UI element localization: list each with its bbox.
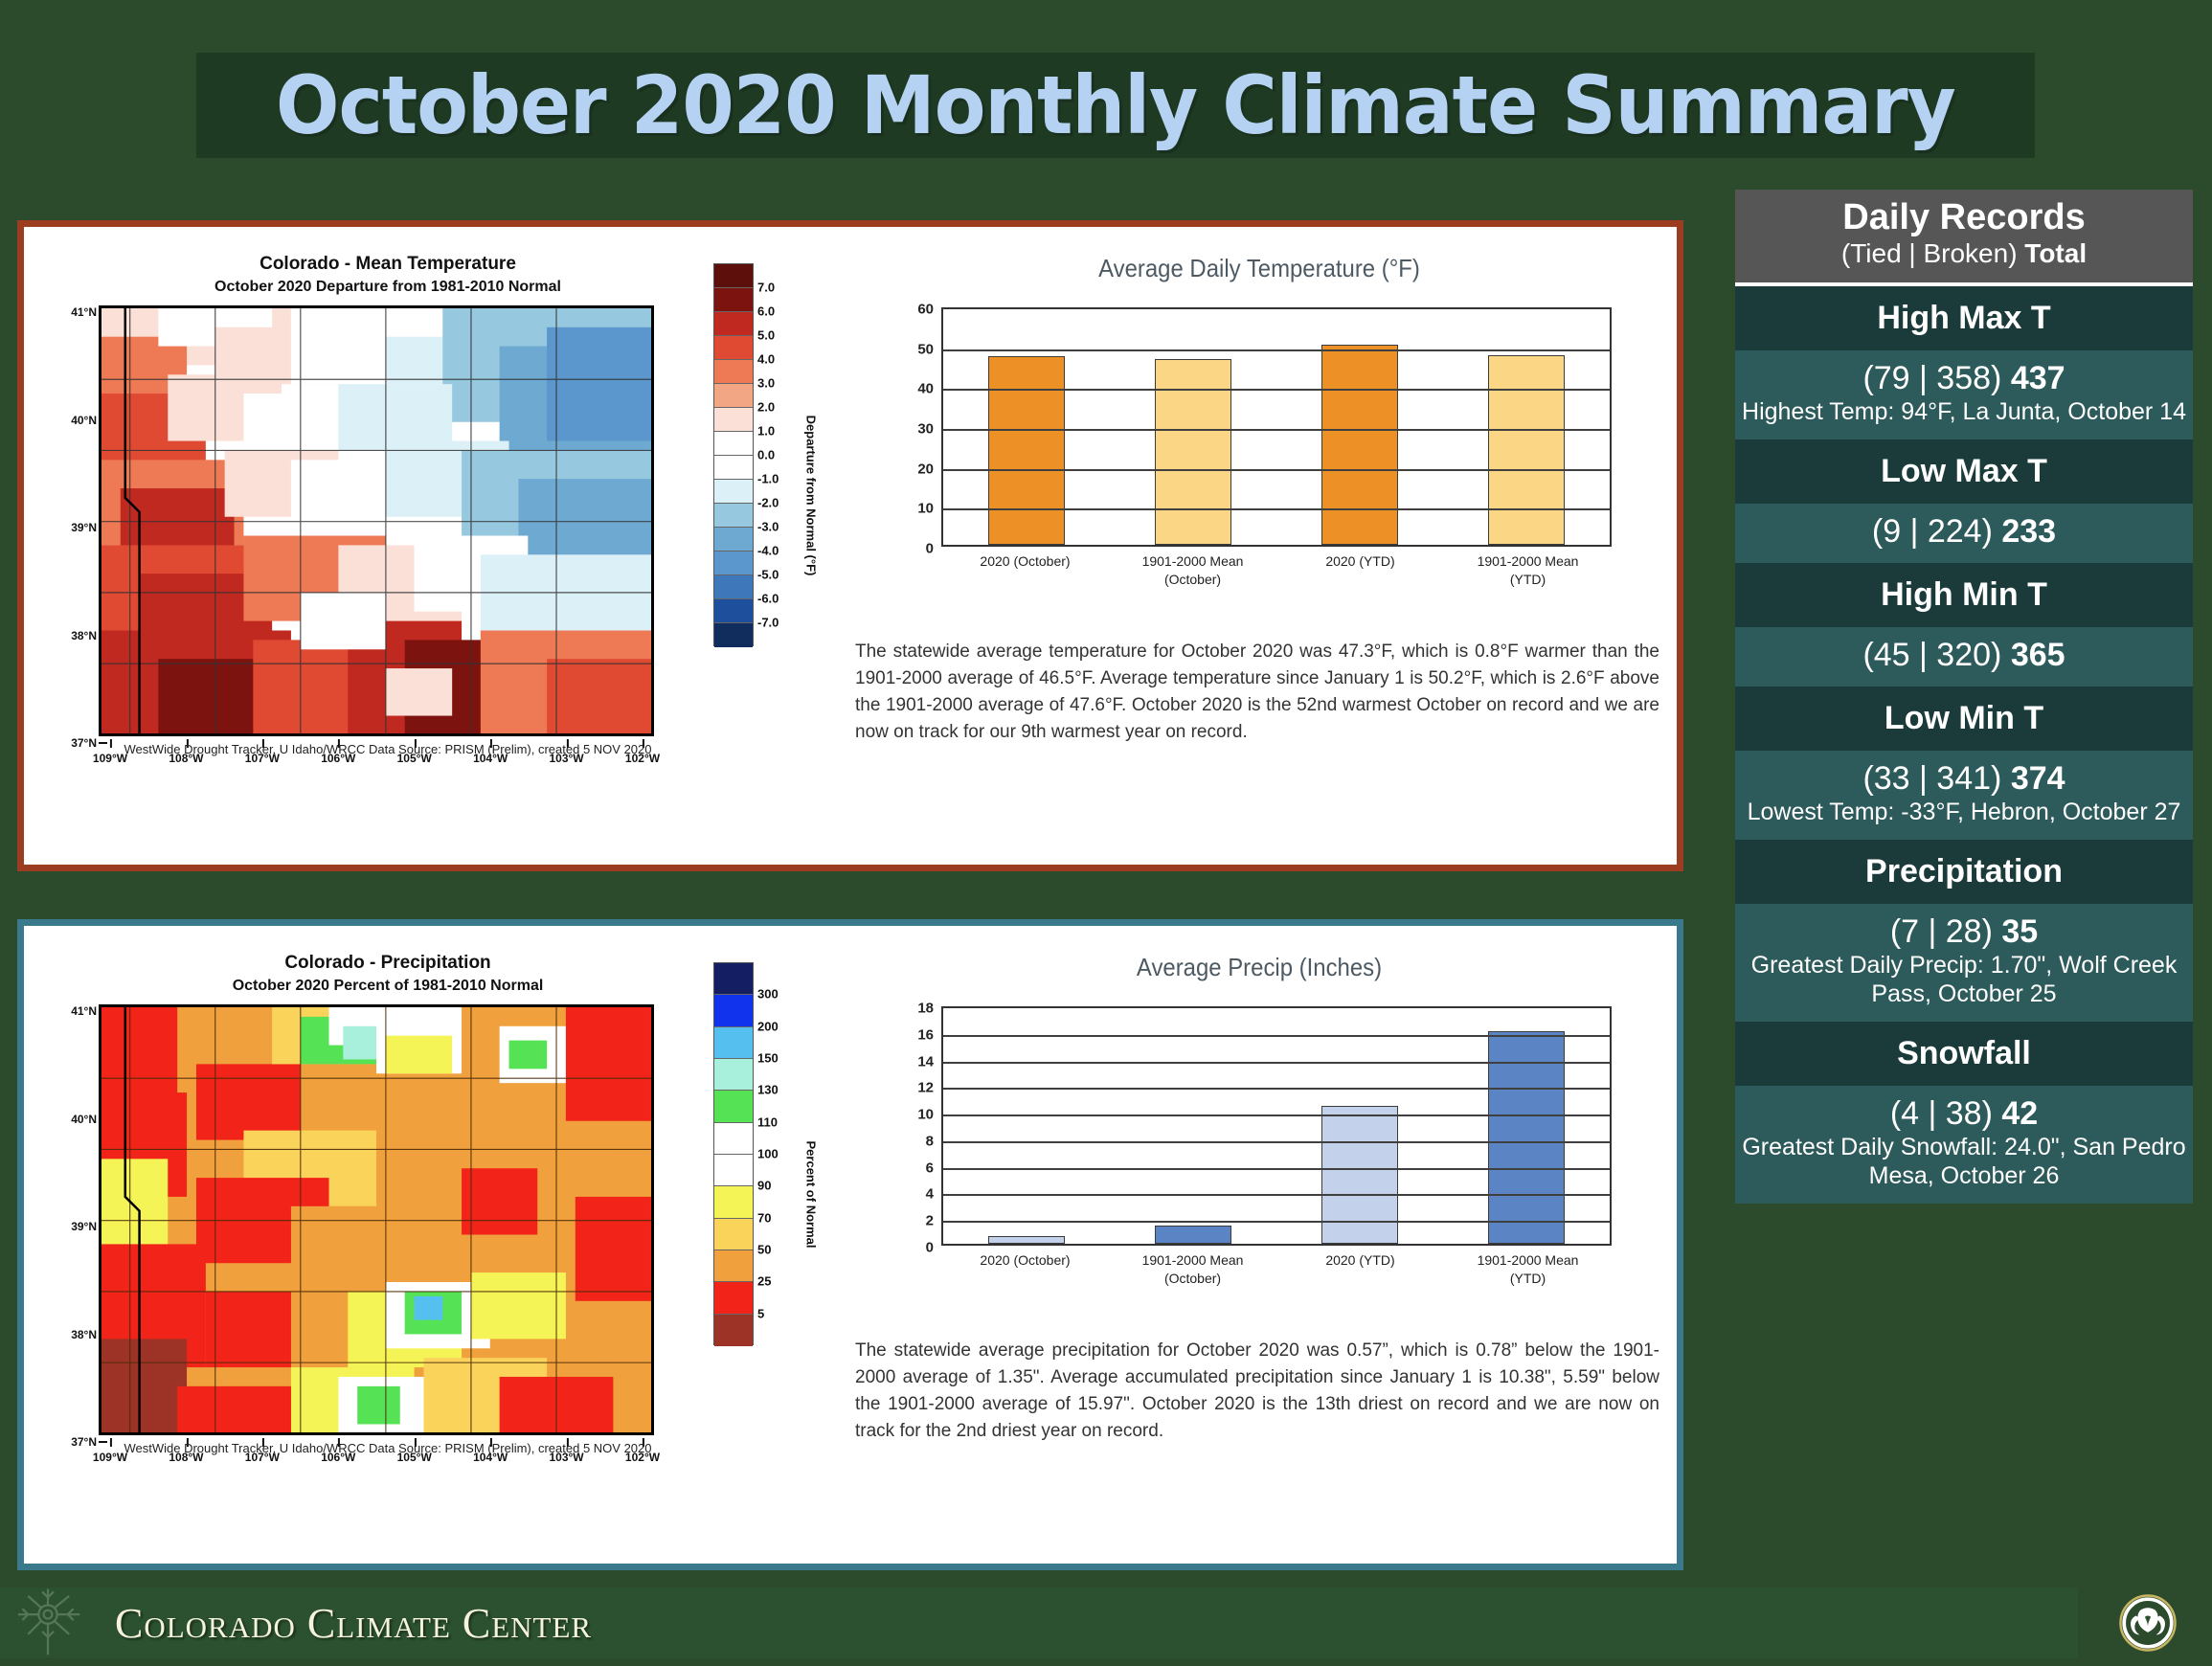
record-counts-tied-broken: (45 | 320) — [1862, 637, 2010, 673]
record-value: (4 | 38) 42Greatest Daily Snowfall: 24.0… — [1735, 1086, 2193, 1204]
precipitation-colorbar-band — [714, 1186, 753, 1218]
precipitation-colorbar-band — [714, 1155, 753, 1186]
precipitation-map-title: Colorado - Precipitation — [53, 953, 723, 974]
temperature-colorbar: 7.06.05.04.03.02.01.00.0-1.0-2.0-3.0-4.0… — [704, 263, 857, 713]
precipitation-colorbar-label: 70 — [757, 1210, 771, 1225]
temperature-map-caption: WestWide Drought Tracker, U Idaho/WRCC D… — [53, 742, 723, 756]
precipitation-card: Colorado - Precipitation October 2020 Pe… — [17, 919, 1683, 1570]
temperature-colorbar-band — [714, 384, 753, 408]
precipitation-chart-title: Average Precip (Inches) — [890, 953, 1630, 982]
temperature-colorbar-label: 7.0 — [757, 281, 775, 295]
daily-records-subtitle-total: Total — [2024, 238, 2087, 268]
daily-records-sidebar: Daily Records (Tied | Broken) Total High… — [1735, 190, 2193, 1204]
precipitation-paragraph: The statewide average precipitation for … — [855, 1338, 1659, 1445]
temperature-colorbar-band — [714, 575, 753, 599]
precipitation-colorbar-band — [714, 1059, 753, 1091]
precipitation-chart-y-tick: 12 — [917, 1080, 934, 1096]
csu-ram-logo — [2118, 1593, 2178, 1653]
temperature-chart-bar — [988, 356, 1065, 545]
footer-bar: Colorado Climate Center — [0, 1587, 2078, 1658]
record-counts: (4 | 38) 42 — [1741, 1095, 2187, 1132]
precipitation-colorbar-band — [714, 1123, 753, 1155]
temperature-chart-x-label: 2020 (October) — [941, 552, 1109, 589]
precipitation-chart-y-tick: 14 — [917, 1053, 934, 1069]
precipitation-colorbar-label: 130 — [757, 1083, 779, 1097]
precipitation-colorbar-label: 50 — [757, 1243, 771, 1257]
precipitation-map-lat-tick: 38°N — [71, 1328, 97, 1341]
precipitation-map-caption: WestWide Drought Tracker, U Idaho/WRCC D… — [53, 1441, 723, 1455]
precipitation-chart-bar — [1155, 1226, 1231, 1244]
temperature-colorbar-band — [714, 408, 753, 432]
temperature-chart-x-label: 1901-2000 Mean(October) — [1109, 552, 1276, 589]
footer: Colorado Climate Center — [0, 1580, 2212, 1666]
record-value: (45 | 320) 365 — [1735, 627, 2193, 687]
temperature-colorbar-label: -6.0 — [757, 592, 779, 606]
record-counts-tied-broken: (33 | 341) — [1862, 760, 2010, 797]
precipitation-colorbar: 300200150130110100907050255 Percent of N… — [704, 962, 857, 1412]
temperature-map-subtitle: October 2020 Departure from 1981-2010 No… — [53, 279, 723, 296]
precipitation-chart-gridline — [943, 1114, 1610, 1116]
temperature-colorbar-label: 0.0 — [757, 448, 775, 462]
temperature-colorbar-band — [714, 504, 753, 528]
temperature-card: Colorado - Mean Temperature October 2020… — [17, 220, 1683, 871]
precipitation-chart-gridline — [943, 1221, 1610, 1223]
temperature-colorbar-band — [714, 480, 753, 504]
precipitation-map-image — [102, 1007, 651, 1433]
record-counts: (7 | 28) 35 — [1741, 913, 2187, 950]
precipitation-map-lat-tick: 39°N — [71, 1220, 97, 1233]
precipitation-colorbar-band — [714, 963, 753, 995]
temperature-colorbar-label: 3.0 — [757, 376, 775, 391]
record-counts-total: 42 — [2001, 1095, 2038, 1132]
temperature-map-panel: Colorado - Mean Temperature October 2020… — [53, 254, 723, 867]
temperature-chart-gridline — [943, 349, 1610, 351]
record-detail: Greatest Daily Precip: 1.70", Wolf Creek… — [1741, 951, 2187, 1008]
record-value: (79 | 358) 437Highest Temp: 94°F, La Jun… — [1735, 350, 2193, 439]
precipitation-colorbar-band — [714, 1250, 753, 1282]
precipitation-colorbar-band — [714, 1315, 753, 1346]
temperature-chart-gridline — [943, 508, 1610, 510]
precipitation-colorbar-band — [714, 1219, 753, 1250]
precipitation-chart-y-tick: 10 — [917, 1107, 934, 1123]
temperature-colorbar-band — [714, 336, 753, 360]
temperature-chart-y-tick: 20 — [917, 461, 934, 477]
precipitation-chart-y-tick: 4 — [926, 1186, 934, 1203]
precipitation-chart-gridline — [943, 1168, 1610, 1170]
record-category: High Min T — [1735, 563, 2193, 627]
precipitation-x-labels: 2020 (October)1901-2000 Mean(October)202… — [941, 1251, 1612, 1288]
record-value: (9 | 224) 233 — [1735, 504, 2193, 563]
temperature-chart-gridline — [943, 389, 1610, 391]
precipitation-chart-y-tick: 6 — [926, 1159, 934, 1176]
record-counts-total: 233 — [2001, 513, 2056, 550]
precipitation-chart-y-tick: 16 — [917, 1026, 934, 1043]
temperature-chart-y-tick: 50 — [917, 341, 934, 357]
temperature-colorbar-label: -7.0 — [757, 616, 779, 630]
temperature-colorbar-label: -2.0 — [757, 496, 779, 510]
temperature-chart-x-label: 1901-2000 Mean(YTD) — [1444, 552, 1612, 589]
precipitation-chart-x-label: 2020 (October) — [941, 1251, 1109, 1288]
record-counts-total: 365 — [2011, 637, 2065, 673]
record-detail: Highest Temp: 94°F, La Junta, October 14 — [1741, 397, 2187, 426]
precipitation-chart-y-tick: 2 — [926, 1213, 934, 1229]
temperature-colorbar-title: Departure from Normal (°F) — [804, 416, 819, 576]
temperature-chart-gridline — [943, 429, 1610, 431]
precipitation-map-lat-axis: 41°N40°N39°N38°N37°N — [55, 1004, 97, 1435]
precipitation-map-panel: Colorado - Precipitation October 2020 Pe… — [53, 953, 723, 1565]
temperature-chart-x-label: 2020 (YTD) — [1276, 552, 1444, 589]
footer-organization: Colorado Climate Center — [115, 1599, 592, 1648]
precipitation-chart-bar — [1321, 1106, 1398, 1244]
temperature-chart-bar — [1321, 345, 1398, 545]
record-category: Snowfall — [1735, 1022, 2193, 1086]
precipitation-chart-y-tick: 18 — [917, 1001, 934, 1017]
temperature-x-labels: 2020 (October)1901-2000 Mean(October)202… — [941, 552, 1612, 589]
record-value: (33 | 341) 374Lowest Temp: -33°F, Hebron… — [1735, 751, 2193, 840]
temperature-colorbar-band — [714, 288, 753, 312]
temperature-colorbar-band — [714, 312, 753, 336]
temperature-map-frame — [99, 305, 654, 736]
daily-records-subtitle-normal: (Tied | Broken) — [1841, 238, 2024, 268]
precipitation-chart-gridline — [943, 1035, 1610, 1037]
record-counts: (33 | 341) 374 — [1741, 760, 2187, 797]
precipitation-colorbar-label: 150 — [757, 1051, 779, 1066]
precipitation-colorbar-label: 25 — [757, 1274, 771, 1289]
climate-summary-page: October 2020 Monthly Climate Summary Col… — [0, 0, 2212, 1666]
precipitation-chart-x-label: 2020 (YTD) — [1276, 1251, 1444, 1288]
temperature-plot-area: 0102030405060 — [941, 307, 1612, 547]
precipitation-colorbar-band — [714, 1027, 753, 1059]
precipitation-colorbar-label: 110 — [757, 1114, 778, 1129]
temperature-colorbar-label: -1.0 — [757, 472, 779, 486]
record-category: Precipitation — [1735, 840, 2193, 904]
title-banner: October 2020 Monthly Climate Summary — [196, 53, 2035, 158]
temperature-map-lat-axis: 41°N40°N39°N38°N37°N — [55, 305, 97, 736]
record-category: Low Max T — [1735, 439, 2193, 504]
precipitation-colorbar-label: 300 — [757, 987, 779, 1002]
precipitation-colorbar-band — [714, 995, 753, 1026]
precipitation-colorbar-label: 5 — [757, 1306, 764, 1320]
temperature-colorbar-band — [714, 623, 753, 647]
precipitation-chart-gridline — [943, 1194, 1610, 1196]
record-counts-tied-broken: (9 | 224) — [1872, 513, 2001, 550]
temperature-colorbar-band — [714, 360, 753, 384]
temperature-colorbar-band — [714, 456, 753, 480]
precipitation-map-lat-tick: 40°N — [71, 1113, 97, 1126]
temperature-map-lat-tick: 41°N — [71, 305, 97, 319]
precipitation-chart-gridline — [943, 1088, 1610, 1090]
precipitation-map-subtitle: October 2020 Percent of 1981-2010 Normal — [53, 978, 723, 995]
precipitation-colorbar-label: 100 — [757, 1147, 779, 1161]
temperature-colorbar-band — [714, 599, 753, 623]
record-counts-total: 35 — [2001, 913, 2038, 950]
temperature-chart-gridline — [943, 469, 1610, 471]
temperature-colorbar-band — [714, 264, 753, 288]
temperature-colorbar-label: 1.0 — [757, 424, 775, 439]
precipitation-map-lat-tick: 41°N — [71, 1004, 97, 1018]
temperature-colorbar-band — [714, 528, 753, 552]
temperature-colorbar-label: -3.0 — [757, 520, 779, 534]
record-counts-tied-broken: (79 | 358) — [1862, 360, 2010, 396]
temperature-colorbar-label: -4.0 — [757, 544, 779, 558]
temperature-chart-y-tick: 0 — [926, 541, 934, 557]
record-detail: Lowest Temp: -33°F, Hebron, October 27 — [1741, 798, 2187, 826]
precipitation-chart-x-label: 1901-2000 Mean(October) — [1109, 1251, 1276, 1288]
temperature-colorbar-label: 4.0 — [757, 352, 775, 367]
temperature-chart-y-tick: 10 — [917, 501, 934, 517]
temperature-colorbar-band — [714, 432, 753, 456]
record-detail: Greatest Daily Snowfall: 24.0", San Pedr… — [1741, 1133, 2187, 1190]
record-counts-total: 374 — [2011, 760, 2065, 797]
record-counts-total: 437 — [2011, 360, 2065, 396]
record-counts: (45 | 320) 365 — [1741, 637, 2187, 673]
precipitation-colorbar-label: 200 — [757, 1019, 779, 1033]
record-counts-tied-broken: (4 | 38) — [1890, 1095, 2002, 1132]
page-title: October 2020 Monthly Climate Summary — [276, 58, 1955, 152]
precipitation-chart: Average Precip (Inches) 024681012141618 … — [857, 953, 1661, 1326]
precipitation-plot-area: 024681012141618 — [941, 1006, 1612, 1246]
precipitation-colorbar-title: Percent of Normal — [804, 1141, 819, 1249]
record-value: (7 | 28) 35Greatest Daily Precip: 1.70",… — [1735, 904, 2193, 1022]
record-counts: (9 | 224) 233 — [1741, 513, 2187, 550]
temperature-map-lat-tick: 38°N — [71, 629, 97, 642]
temperature-colorbar-label: 2.0 — [757, 400, 775, 415]
precipitation-chart-bar — [988, 1236, 1065, 1244]
daily-records-title: Daily Records — [1741, 199, 2187, 237]
temperature-colorbar-label: -5.0 — [757, 568, 779, 582]
temperature-chart-bar — [1155, 359, 1231, 545]
record-category: High Max T — [1735, 286, 2193, 350]
temperature-paragraph: The statewide average temperature for Oc… — [855, 639, 1659, 746]
precipitation-colorbar-band — [714, 1091, 753, 1122]
precipitation-map-frame — [99, 1004, 654, 1435]
snowflake-logo — [0, 1587, 115, 1658]
precipitation-chart-gridline — [943, 1062, 1610, 1064]
daily-records-header: Daily Records (Tied | Broken) Total — [1735, 190, 2193, 286]
record-counts-tied-broken: (7 | 28) — [1890, 913, 2002, 950]
temperature-chart-y-tick: 60 — [917, 302, 934, 318]
temperature-map-image — [102, 308, 651, 734]
temperature-colorbar-label: 5.0 — [757, 328, 775, 343]
temperature-colorbar-band — [714, 552, 753, 575]
record-counts: (79 | 358) 437 — [1741, 360, 2187, 396]
temperature-map-title: Colorado - Mean Temperature — [53, 254, 723, 275]
temperature-chart-y-tick: 40 — [917, 381, 934, 397]
precipitation-chart-y-tick: 8 — [926, 1133, 934, 1149]
temperature-map-lat-tick: 40°N — [71, 414, 97, 427]
precipitation-colorbar-label: 90 — [757, 1179, 771, 1193]
daily-records-subtitle: (Tied | Broken) Total — [1741, 239, 2187, 269]
record-category: Low Min T — [1735, 687, 2193, 751]
temperature-chart-bar — [1488, 355, 1565, 545]
precipitation-chart-gridline — [943, 1141, 1610, 1143]
precipitation-chart-y-tick: 0 — [926, 1240, 934, 1256]
precipitation-colorbar-band — [714, 1282, 753, 1314]
temperature-colorbar-label: 6.0 — [757, 304, 775, 319]
temperature-chart-title: Average Daily Temperature (°F) — [890, 254, 1630, 283]
precipitation-chart-x-label: 1901-2000 Mean(YTD) — [1444, 1251, 1612, 1288]
temperature-map-lat-tick: 39°N — [71, 521, 97, 534]
temperature-chart: Average Daily Temperature (°F) 010203040… — [857, 254, 1661, 627]
temperature-chart-y-tick: 30 — [917, 421, 934, 438]
